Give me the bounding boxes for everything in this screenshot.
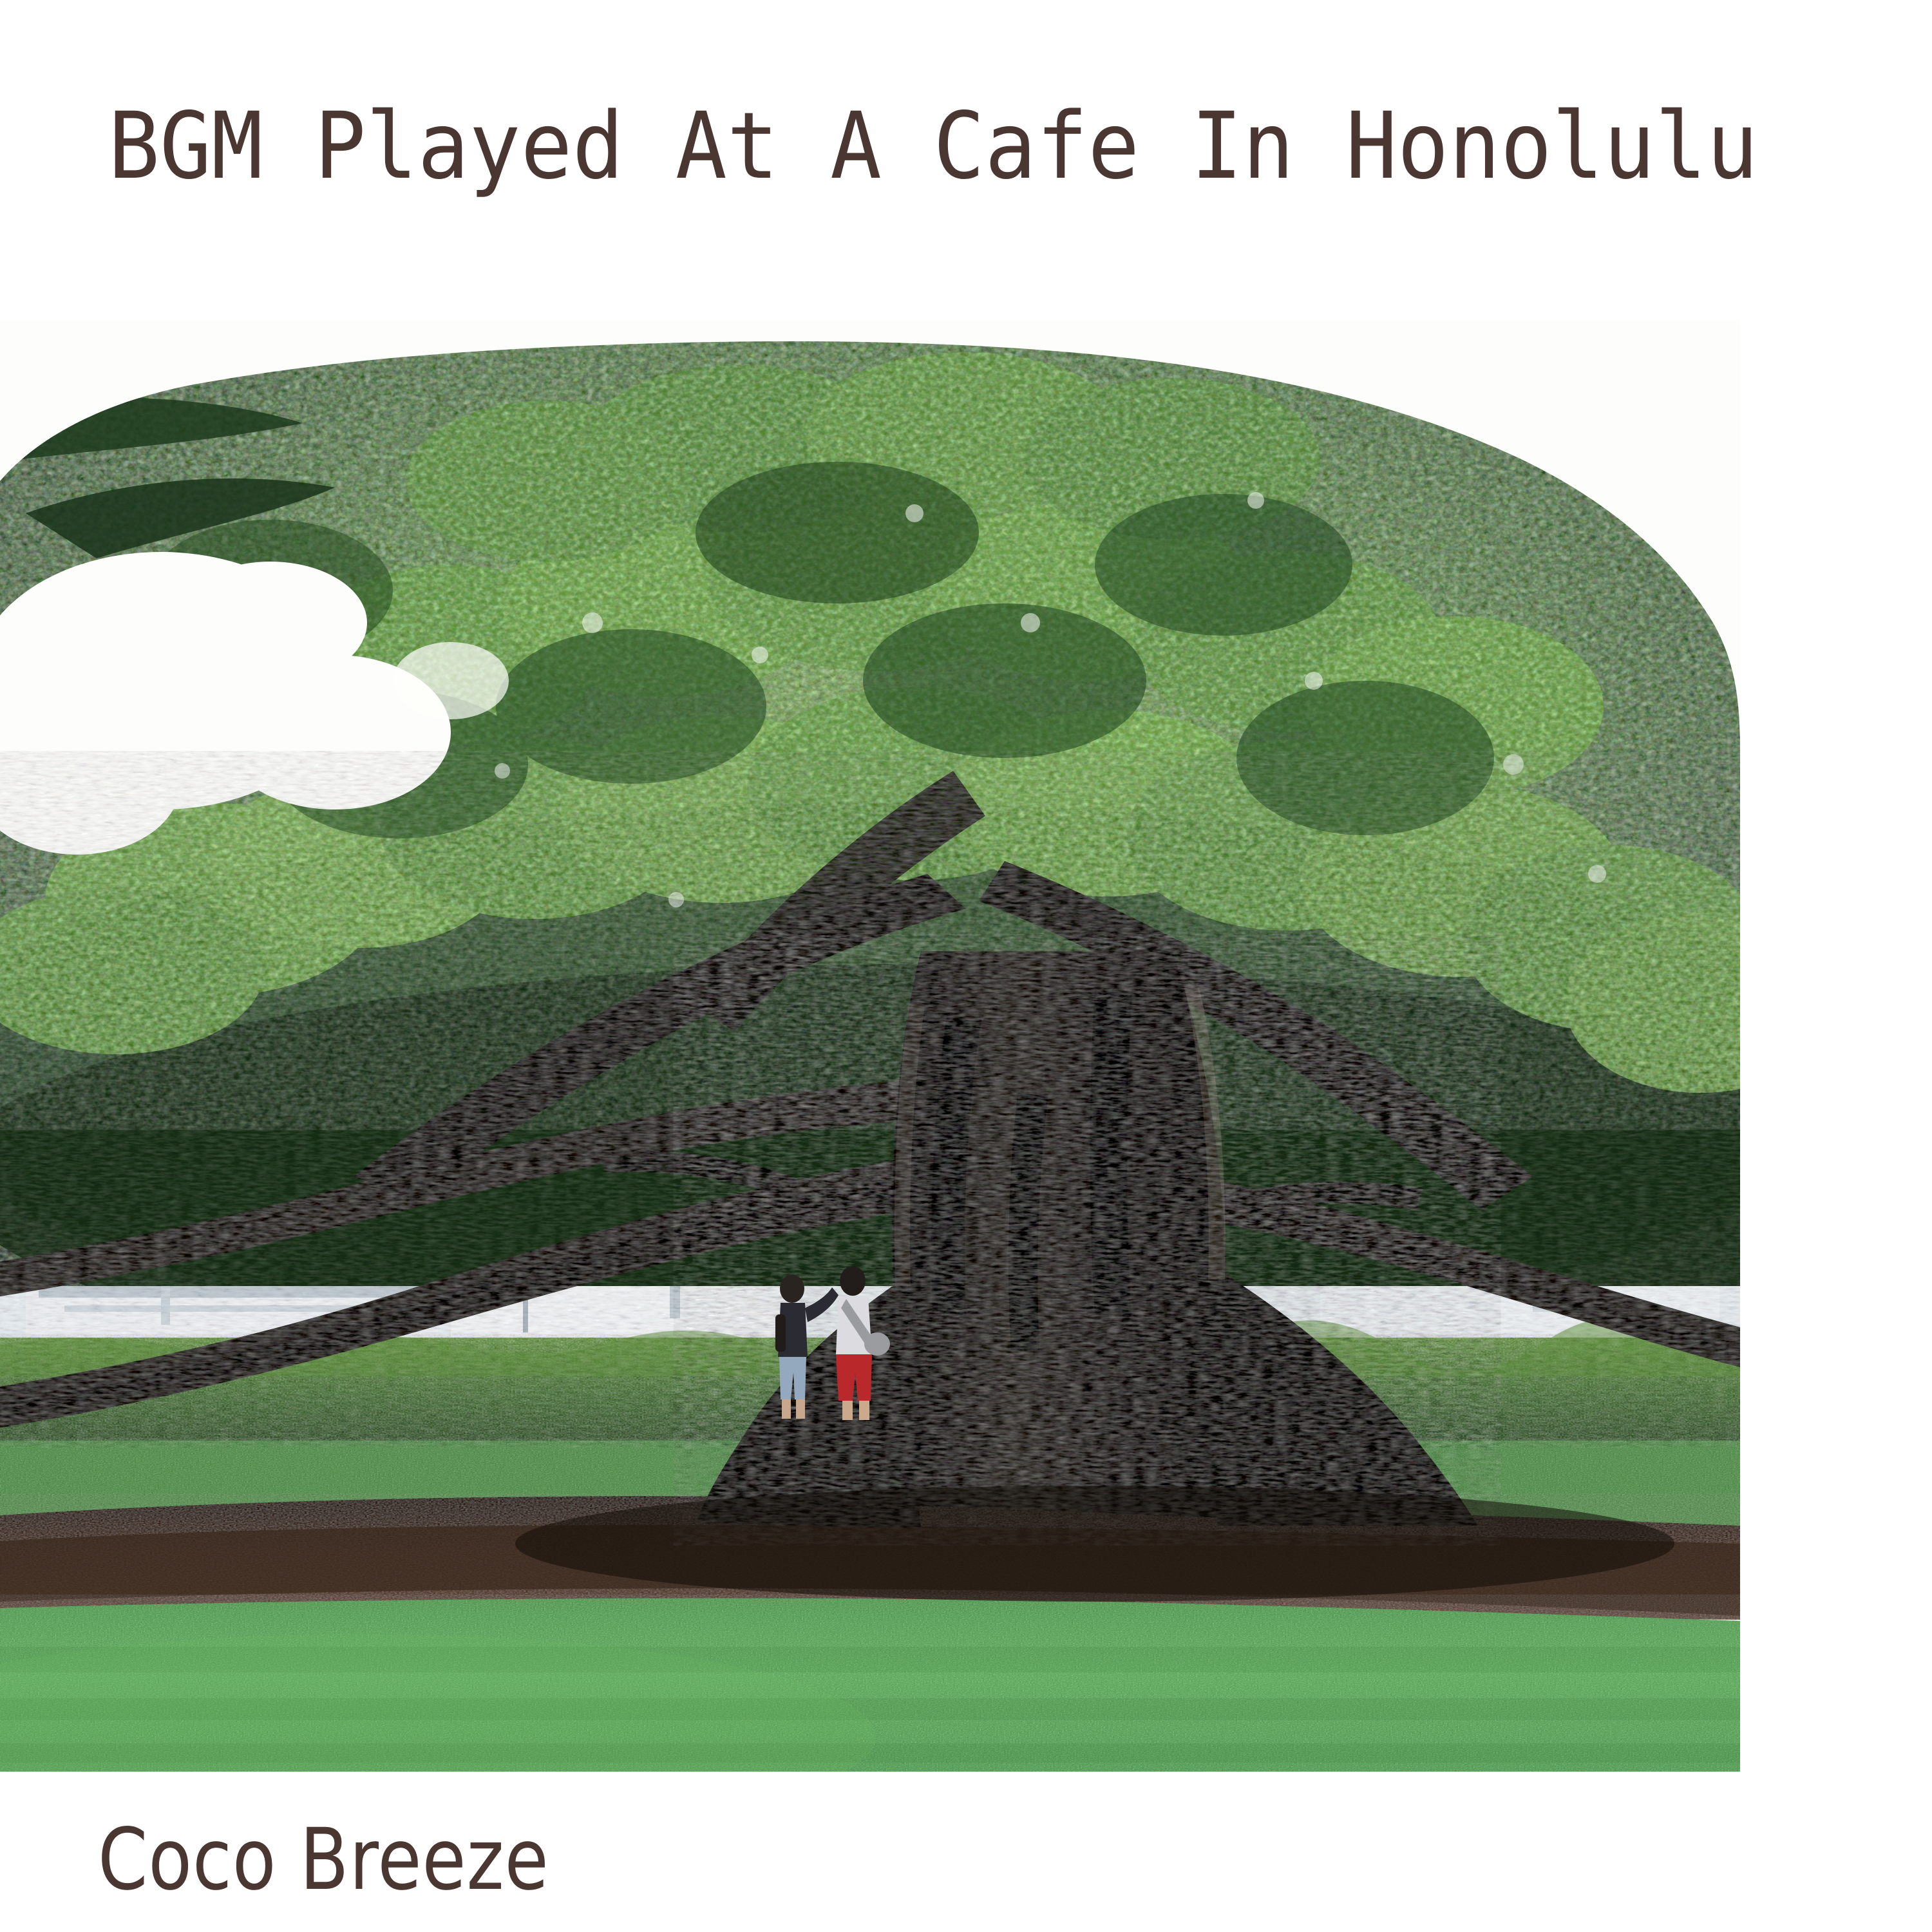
cover-photo <box>0 320 1740 1772</box>
album-cover: BGM Played At A Cafe In Honolulu <box>0 0 1932 1932</box>
artist-name: Coco Breeze <box>98 1815 549 1905</box>
lawn <box>0 1598 1740 1772</box>
page-title: BGM Played At A Cafe In Honolulu <box>108 98 1725 201</box>
trunk-shadow <box>515 1486 1674 1602</box>
